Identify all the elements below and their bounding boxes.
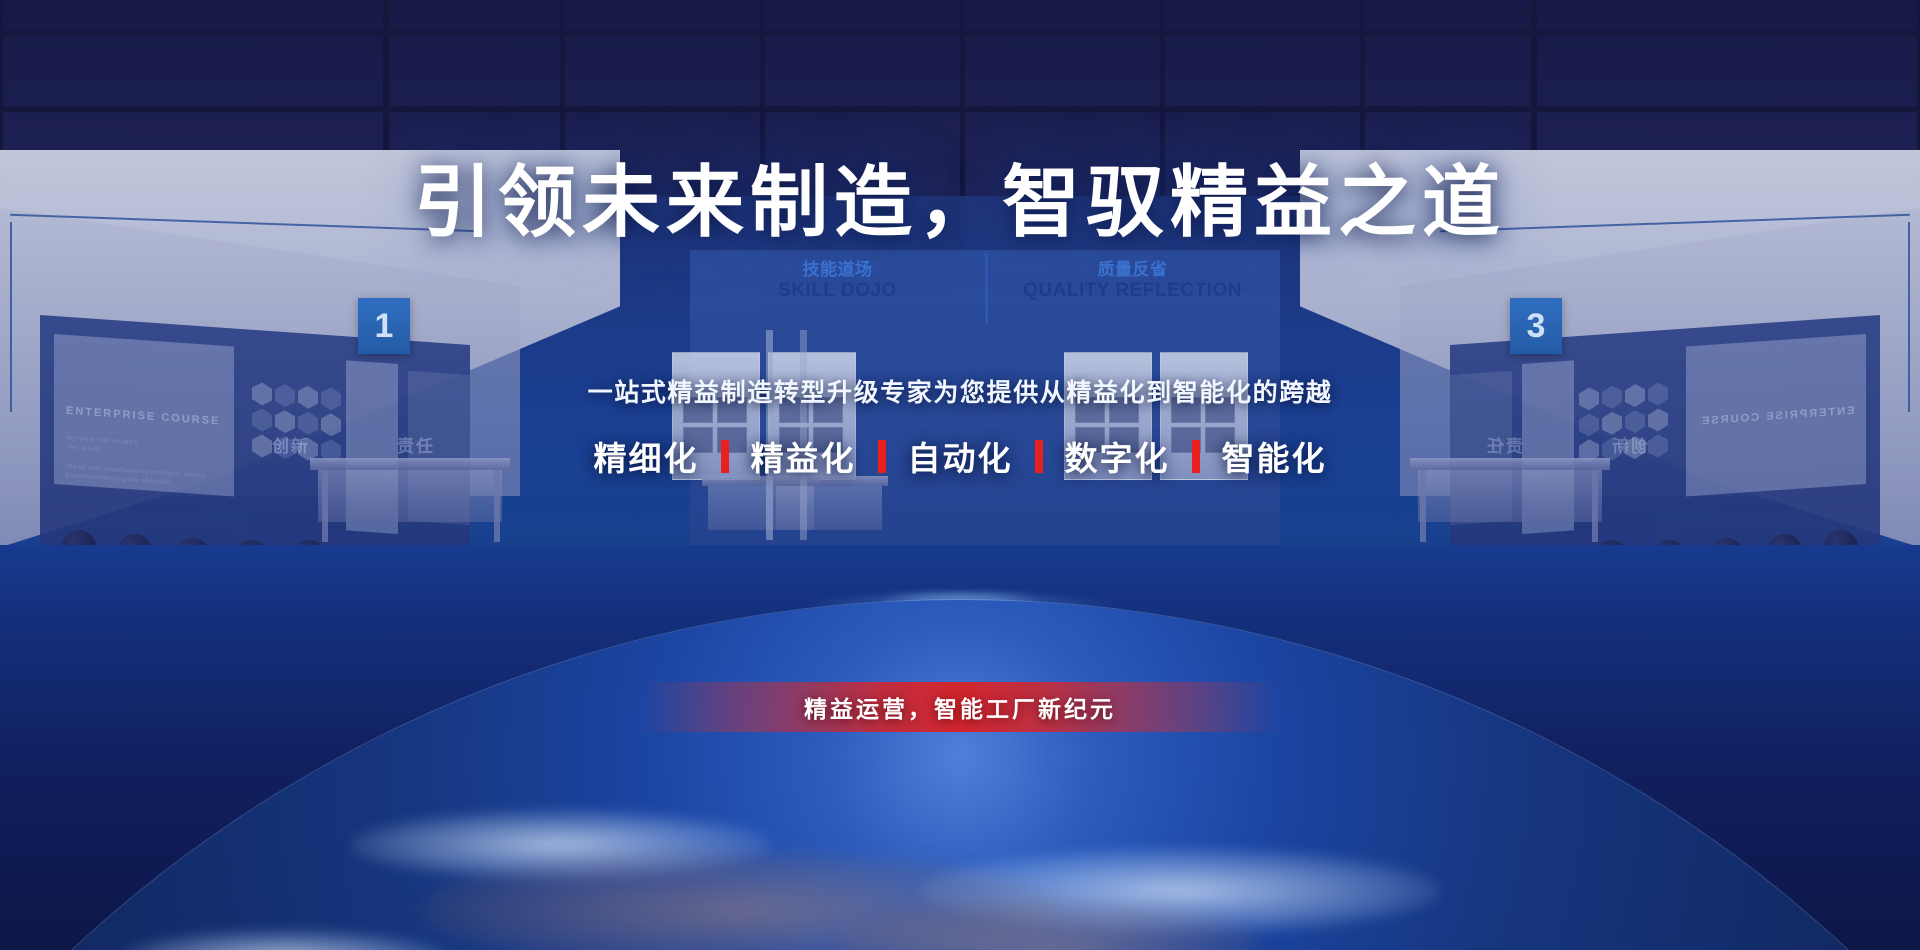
hero-ribbon-text: 精益运营，智能工厂新纪元 [804, 690, 1116, 724]
keyword-shuzihua: 数字化 [1065, 432, 1170, 480]
hero-banner: 技能道场 SKILL DOJO 质量反省 QUALITY REFLECTION … [0, 0, 1920, 950]
keyword-separator-icon [1035, 440, 1043, 473]
hero-title: 引领未来制造，智驭精益之道 [0, 140, 1920, 252]
keyword-separator-icon [1192, 440, 1200, 473]
keyword-separator-icon [878, 440, 886, 473]
keyword-separator-icon [721, 440, 729, 473]
keyword-zhinenghua: 智能化 [1222, 432, 1327, 480]
hero-ribbon: 精益运营，智能工厂新纪元 [640, 682, 1280, 732]
hero-content: 引领未来制造，智驭精益之道 一站式精益制造转型升级专家为您提供从精益化到智能化的… [0, 0, 1920, 950]
hero-subtitle: 一站式精益制造转型升级专家为您提供从精益化到智能化的跨越 [0, 373, 1920, 409]
keyword-jingyihua: 精益化 [751, 432, 856, 480]
keyword-jingxihua: 精细化 [594, 432, 699, 480]
keyword-zidonghua: 自动化 [908, 432, 1013, 480]
hero-keywords: 精细化 精益化 自动化 数字化 智能化 [0, 432, 1920, 480]
